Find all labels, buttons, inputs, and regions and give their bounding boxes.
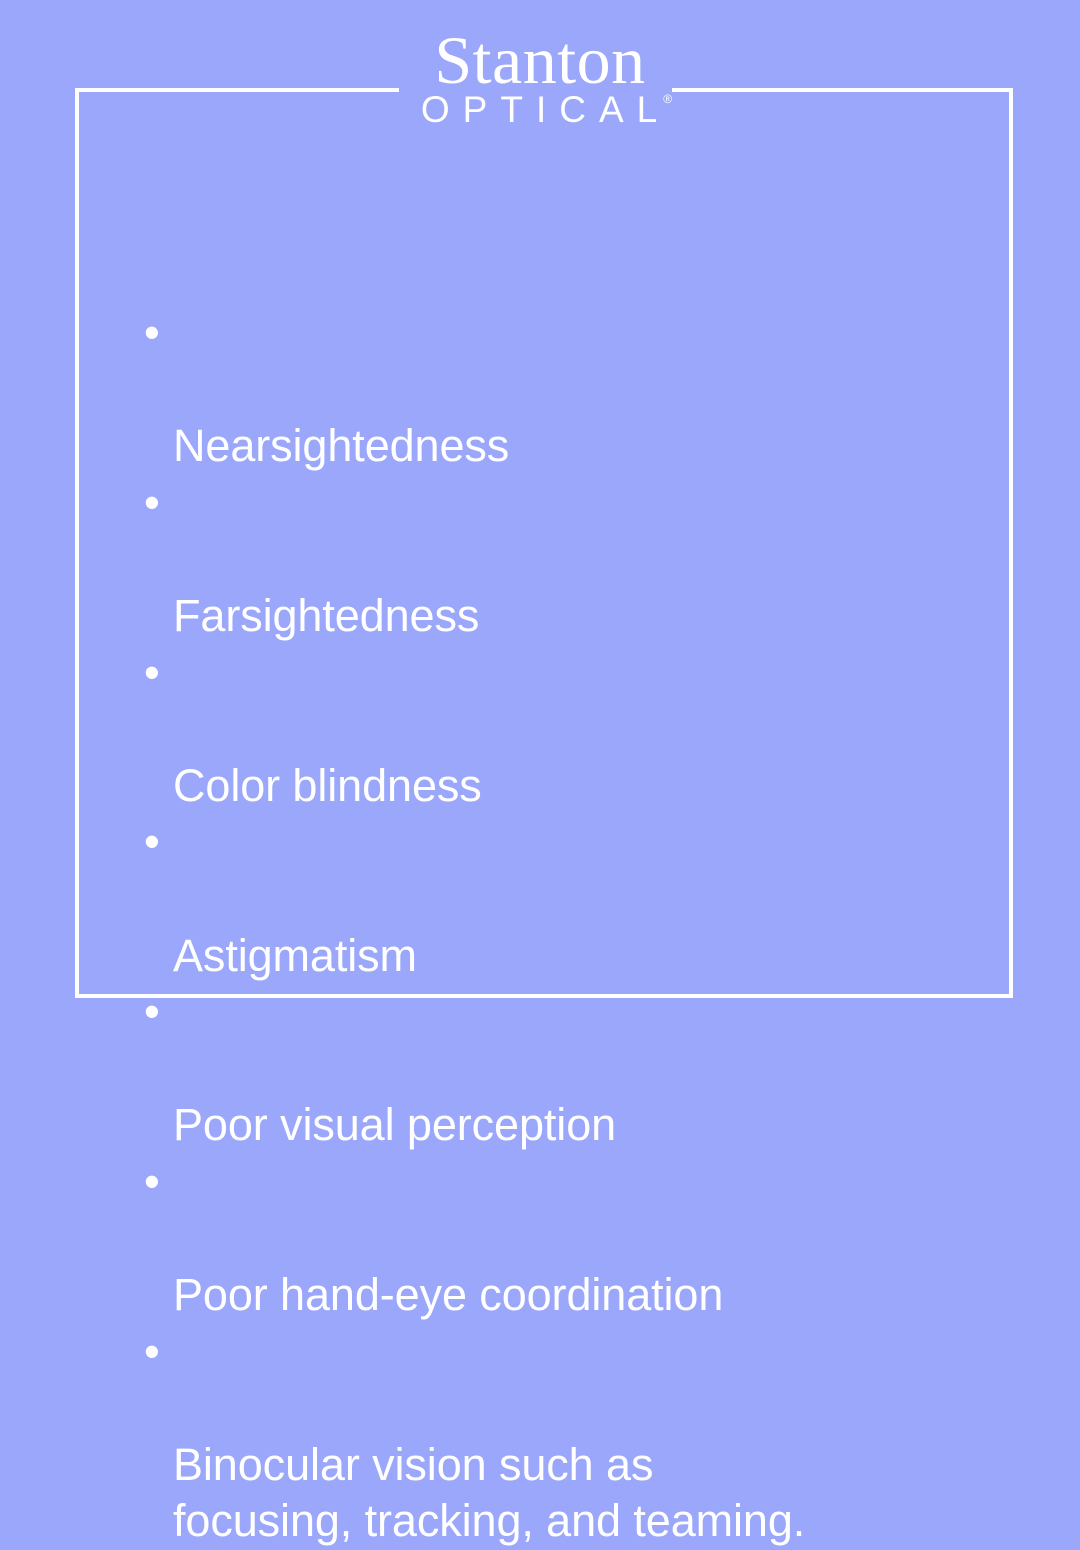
list-item-label: Binocular vision such as focusing, track… <box>173 1439 805 1547</box>
bullet-icon: • <box>144 645 164 702</box>
list-item: • Astigmatism <box>140 814 960 984</box>
registered-trademark-icon: ® <box>663 92 672 106</box>
poster-canvas: Stanton OPTICAL® • Nearsightedness • Far… <box>0 0 1080 1080</box>
list-item-label: Astigmatism <box>173 930 417 981</box>
frame-left-segment <box>75 88 79 998</box>
bullet-icon: • <box>144 1154 164 1211</box>
bullet-icon: • <box>144 305 164 362</box>
bullet-icon: • <box>144 984 164 1041</box>
bullet-icon: • <box>144 814 164 871</box>
list-item: • Color blindness <box>140 645 960 815</box>
list-item-label: Farsightedness <box>173 590 479 641</box>
list-item: • Farsightedness <box>140 475 960 645</box>
list-item: • Poor hand-eye coordination <box>140 1154 960 1324</box>
bullet-icon: • <box>144 475 164 532</box>
list-item-label: Color blindness <box>173 760 482 811</box>
list-item: • Nearsightedness <box>140 305 960 475</box>
list-item: • Binocular vision such as focusing, tra… <box>140 1324 960 1550</box>
condition-list: • Nearsightedness • Farsightedness • Col… <box>140 305 960 1550</box>
frame-right-segment <box>1009 88 1013 998</box>
brand-subword: OPTICAL <box>408 91 670 130</box>
brand-logo: Stanton OPTICAL® <box>0 28 1080 129</box>
list-item-label: Poor visual perception <box>173 1099 616 1150</box>
brand-subword-row: OPTICAL® <box>0 91 1080 130</box>
list-item: • Poor visual perception <box>140 984 960 1154</box>
brand-wordmark: Stanton <box>0 28 1080 93</box>
bullet-icon: • <box>144 1324 164 1381</box>
list-item-label: Poor hand-eye coordination <box>173 1269 723 1320</box>
list-item-label: Nearsightedness <box>173 420 509 471</box>
